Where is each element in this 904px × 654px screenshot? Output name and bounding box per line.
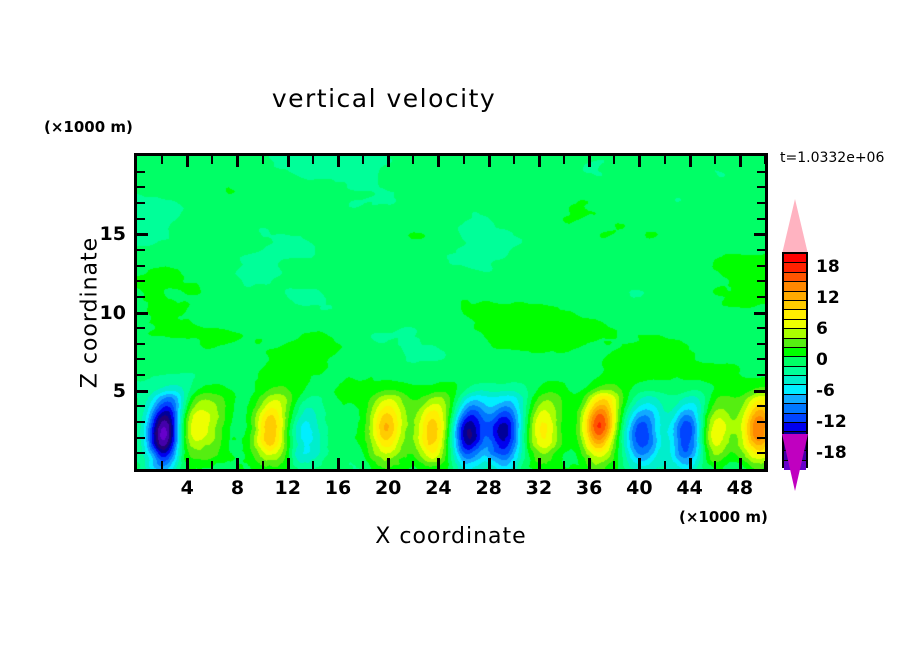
x-axis-tick (538, 156, 541, 167)
x-axis-tick (714, 156, 716, 164)
x-axis-tick (412, 156, 414, 164)
x-tick-label: 4 (181, 477, 194, 499)
x-axis-tick (287, 458, 290, 469)
x-axis-tick (362, 156, 364, 164)
colorbar-segment (784, 348, 806, 357)
x-axis-tick (488, 156, 491, 167)
x-axis-tick (337, 458, 340, 469)
x-tick-label: 20 (375, 477, 401, 499)
y-axis-tick (757, 202, 765, 204)
colorbar-segment (784, 404, 806, 413)
x-axis-tick (588, 458, 591, 469)
y-axis-tick (757, 421, 765, 423)
y-axis-tick (137, 358, 145, 360)
y-axis-tick (757, 265, 765, 267)
y-axis-tick (137, 171, 145, 173)
y-axis-tick (754, 312, 765, 315)
x-axis-tick (613, 156, 615, 164)
x-axis-tick (287, 156, 290, 167)
x-axis-tick (161, 461, 163, 469)
x-axis-tick (463, 461, 465, 469)
x-axis-tick (337, 156, 340, 167)
x-axis-tick (161, 156, 163, 164)
x-axis-tick (236, 458, 239, 469)
colorbar-segment (784, 282, 806, 291)
time-annotation: t=1.0332e+06 (780, 150, 884, 166)
y-axis-tick (137, 437, 145, 439)
x-axis-tick (638, 458, 641, 469)
colorbar-segment (784, 273, 806, 282)
colorbar-tick-label: 0 (816, 350, 828, 370)
x-axis-tick (488, 458, 491, 469)
y-axis-tick (757, 296, 765, 298)
x-axis-tick (513, 156, 515, 164)
x-axis-tick (312, 156, 314, 164)
colorbar-segment (784, 414, 806, 423)
colorbar-segment (784, 339, 806, 348)
x-axis-tick (262, 156, 264, 164)
colorbar-segment (784, 367, 806, 376)
y-axis-tick (137, 249, 145, 251)
x-axis-tick (588, 156, 591, 167)
x-tick-label: 8 (231, 477, 244, 499)
x-axis-tick (513, 461, 515, 469)
y-axis-tick (137, 296, 145, 298)
colorbar-segment (784, 385, 806, 394)
y-axis-tick (137, 280, 145, 282)
y-axis-tick (757, 452, 765, 454)
colorbar-tick-label: -18 (816, 443, 847, 463)
x-axis-tick (739, 458, 742, 469)
y-axis-tick (137, 405, 145, 407)
y-axis-tick (757, 280, 765, 282)
x-axis-tick (437, 156, 440, 167)
colorbar-tick-label: 12 (816, 288, 840, 308)
x-axis-tick (262, 461, 264, 469)
y-tick-label: 15 (0, 223, 126, 245)
colorbar-segment (784, 301, 806, 310)
x-axis-tick (689, 458, 692, 469)
y-axis-tick (757, 249, 765, 251)
y-axis-tick (757, 186, 765, 188)
y-axis-tick (757, 343, 765, 345)
colorbar-over-arrow (782, 199, 808, 254)
x-axis-tick (236, 156, 239, 167)
colorbar-segment (784, 310, 806, 319)
x-axis-tick (437, 458, 440, 469)
y-tick-label: 10 (0, 302, 126, 324)
x-axis-tick (764, 156, 766, 164)
x-axis-tick (211, 156, 213, 164)
y-axis-tick (137, 265, 145, 267)
x-axis-tick (714, 461, 716, 469)
y-axis-tick (137, 390, 148, 393)
colorbar-tick-label: -12 (816, 412, 847, 432)
y-axis-tick (137, 343, 145, 345)
chart-title: vertical velocity (0, 84, 768, 113)
x-tick-label: 24 (425, 477, 451, 499)
colorbar: 181260-6-12-18 (782, 199, 808, 491)
y-axis-tick (757, 358, 765, 360)
y-axis-tick (137, 312, 148, 315)
x-axis-tick (387, 458, 390, 469)
colorbar-segment (784, 423, 806, 432)
x-axis-tick (186, 458, 189, 469)
x-tick-label: 48 (727, 477, 753, 499)
y-tick-label: 5 (0, 380, 126, 402)
y-axis-tick (757, 327, 765, 329)
x-tick-label: 16 (325, 477, 351, 499)
colorbar-segment (784, 357, 806, 366)
y-axis-tick (137, 218, 145, 220)
colorbar-tick-label: 6 (816, 319, 828, 339)
y-axis-tick (137, 452, 145, 454)
x-axis-tick (211, 461, 213, 469)
colorbar-segment (784, 329, 806, 338)
colorbar-segment (784, 395, 806, 404)
colorbar-segment (784, 263, 806, 272)
colorbar-under-arrow (782, 434, 808, 491)
colorbar-segment (784, 292, 806, 301)
x-tick-label: 12 (274, 477, 300, 499)
x-axis-tick (689, 156, 692, 167)
x-axis-tick (613, 461, 615, 469)
colorbar-segment (784, 320, 806, 329)
x-axis-tick (563, 156, 565, 164)
colorbar-tick-label: 18 (816, 257, 840, 277)
x-tick-label: 32 (526, 477, 552, 499)
x-axis-tick (362, 461, 364, 469)
x-axis-tick (739, 156, 742, 167)
x-tick-label: 28 (475, 477, 501, 499)
x-tick-label: 40 (626, 477, 652, 499)
colorbar-segment (784, 376, 806, 385)
x-axis-tick (563, 461, 565, 469)
y-axis-tick (137, 421, 145, 423)
x-tick-label: 44 (676, 477, 702, 499)
y-axis-tick (757, 218, 765, 220)
contour-plot-area (134, 153, 768, 472)
x-axis-title: X coordinate (134, 524, 768, 549)
colorbar-tick-label: -6 (816, 381, 835, 401)
y-axis-tick (137, 186, 145, 188)
x-axis-tick (387, 156, 390, 167)
x-axis-tick (463, 156, 465, 164)
y-axis-tick (757, 437, 765, 439)
x-axis-tick (664, 461, 666, 469)
x-axis-tick (186, 156, 189, 167)
y-axis-tick (137, 233, 148, 236)
y-axis-tick (757, 374, 765, 376)
y-axis-tick (137, 202, 145, 204)
colorbar-segment (784, 254, 806, 263)
y-axis-tick (754, 390, 765, 393)
y-axis-tick (754, 233, 765, 236)
x-axis-tick (764, 461, 766, 469)
y-axis-tick (137, 374, 145, 376)
y-axis-tick (757, 405, 765, 407)
x-axis-tick (412, 461, 414, 469)
x-axis-tick (538, 458, 541, 469)
y-axis-unit-label: (×1000 m) (44, 118, 133, 136)
x-axis-tick (664, 156, 666, 164)
x-tick-label: 36 (576, 477, 602, 499)
y-axis-tick (137, 327, 145, 329)
x-axis-tick (638, 156, 641, 167)
y-axis-tick (757, 171, 765, 173)
contour-field-canvas (137, 156, 765, 469)
x-axis-tick (312, 461, 314, 469)
